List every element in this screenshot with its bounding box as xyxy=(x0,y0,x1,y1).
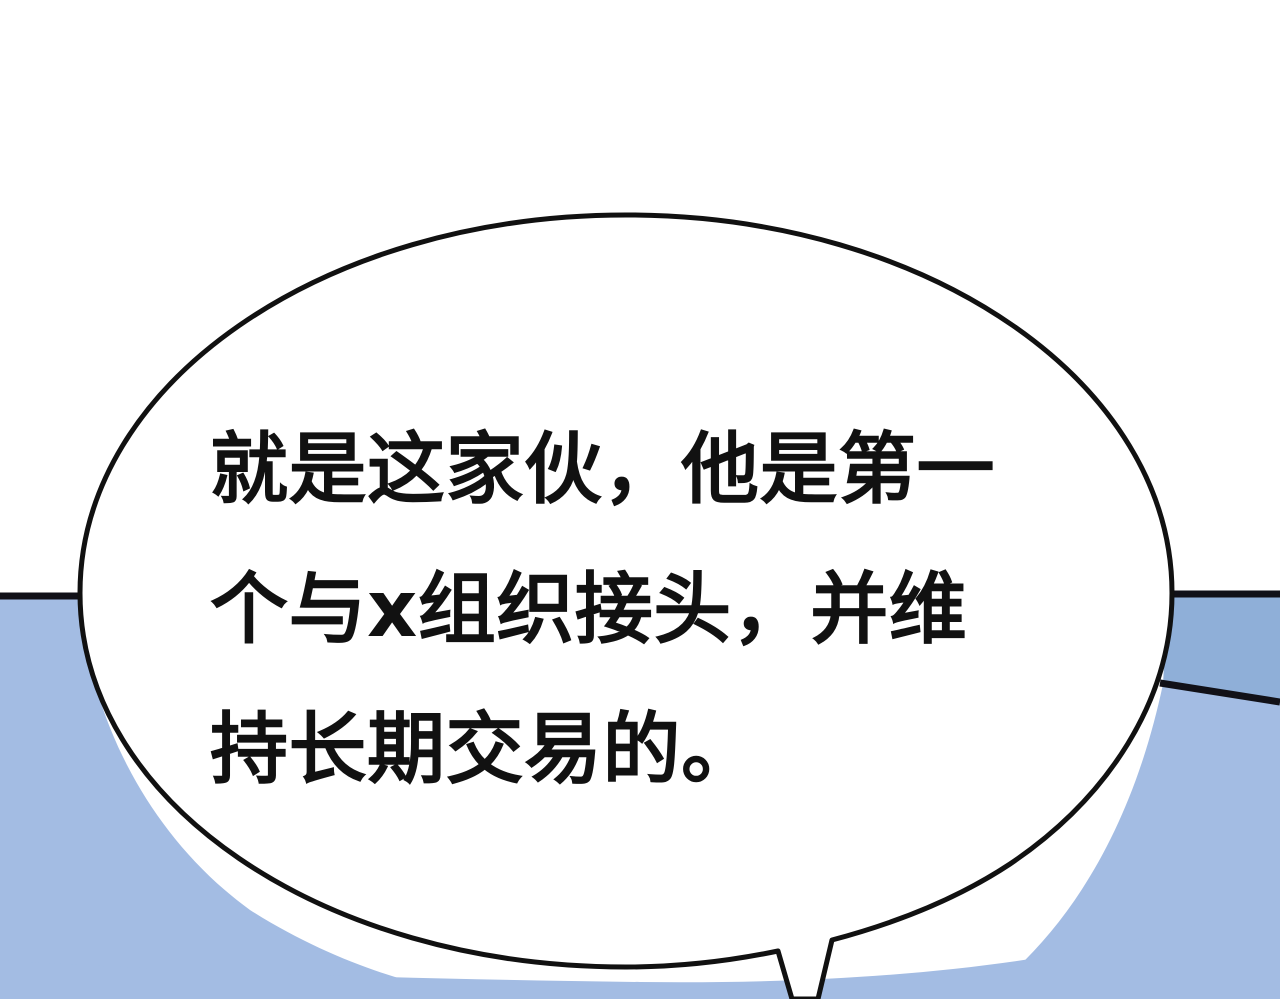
comic-panel: 就是这家伙，他是第一 个与x组织接头，并维 持长期交易的。 xyxy=(0,0,1280,999)
scene-artwork xyxy=(0,0,1280,999)
